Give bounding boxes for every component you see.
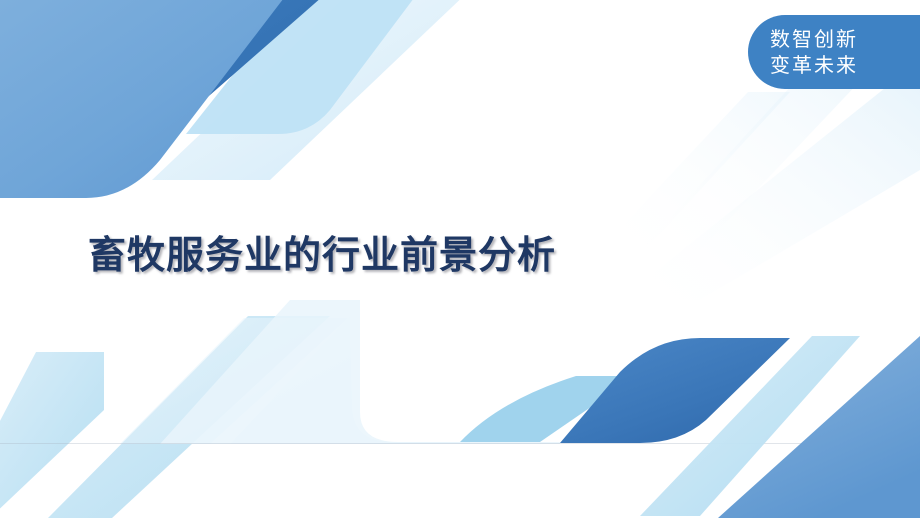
presentation-slide: 数智创新 变革未来 畜牧服务业的行业前景分析 xyxy=(0,0,920,518)
tagline-line-1: 数智创新 xyxy=(770,26,858,52)
tagline-badge: 数智创新 变革未来 xyxy=(748,15,920,89)
slide-title: 畜牧服务业的行业前景分析 xyxy=(88,228,556,282)
tagline-line-2: 变革未来 xyxy=(770,52,858,78)
